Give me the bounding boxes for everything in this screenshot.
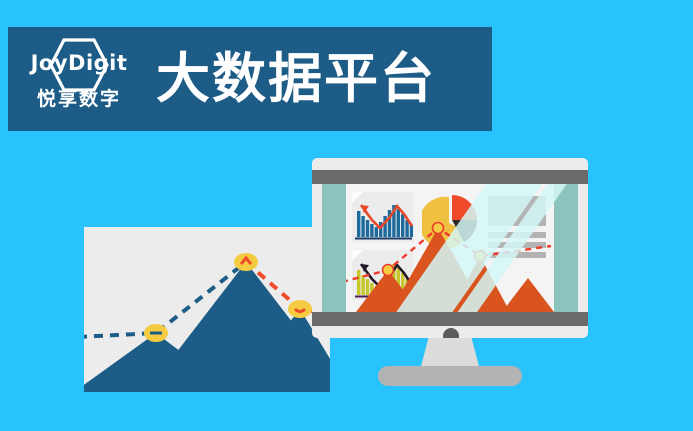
desktop-monitor — [312, 158, 588, 338]
poster-canvas: JoyDigit 悦享数字 大数据平台 — [0, 0, 693, 431]
logo-chinese-name: 悦享数字 — [37, 90, 121, 109]
monitor-stand-base — [378, 366, 522, 386]
brand-logo: JoyDigit 悦享数字 — [16, 33, 142, 125]
monitor-bezel-bottom — [312, 312, 588, 326]
monitor-screen — [322, 184, 578, 312]
data-node — [433, 223, 444, 234]
left-chart-panel — [84, 227, 330, 392]
data-node — [288, 300, 312, 318]
page-title: 大数据平台 — [156, 52, 436, 106]
pie-slice-red — [452, 195, 477, 220]
area-peak-far-right — [502, 278, 554, 312]
data-node — [383, 265, 394, 276]
blue-mountain-chart — [84, 227, 330, 392]
screen-side-band-right — [554, 184, 578, 312]
data-node — [475, 251, 486, 262]
screen-side-band-left — [322, 184, 346, 312]
monitor-bezel-top — [312, 170, 588, 184]
orange-mountain-chart[interactable] — [346, 222, 554, 312]
dashboard-content — [346, 184, 554, 312]
text-block-heading — [488, 196, 546, 204]
header-banner: JoyDigit 悦享数字 大数据平台 — [8, 27, 492, 131]
card-corner-fold — [352, 192, 363, 203]
logo-wordmark: JoyDigit — [31, 53, 128, 74]
